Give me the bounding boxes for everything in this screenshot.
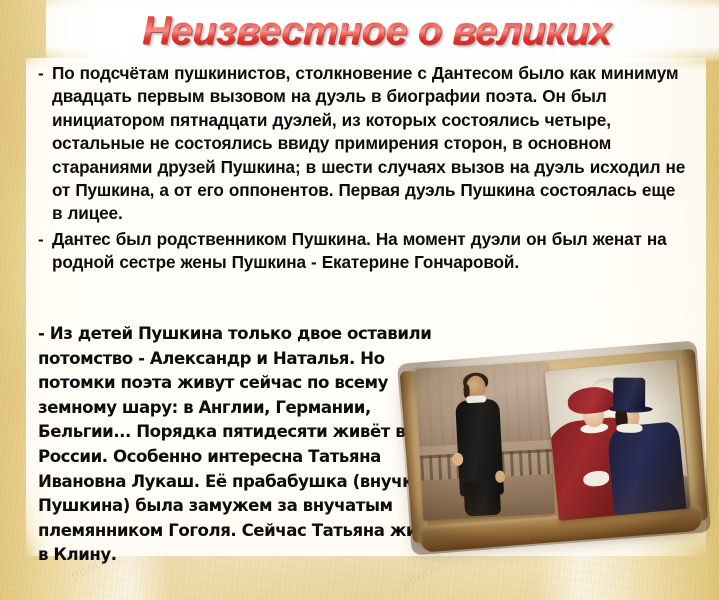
pushkin-right-hand — [495, 470, 506, 483]
pushkin-figure — [446, 374, 513, 519]
bullet-list: - По подсчётам пушкинистов, столкновение… — [30, 62, 690, 277]
book-left-page-portrait — [415, 362, 555, 521]
list-item: - По подсчётам пушкинистов, столкновение… — [30, 62, 690, 226]
book-right-page-portrait — [545, 359, 691, 521]
pushkin-coattail — [463, 481, 501, 517]
gentleman-coat — [606, 421, 687, 521]
bullet-marker-icon: - — [30, 228, 52, 251]
bullet-text: Дантес был родственником Пушкина. На мом… — [52, 228, 690, 275]
pushkin-collar — [466, 395, 486, 403]
slide-canvas: photo photo photo photo Неизвестное о ве… — [0, 0, 719, 600]
top-hat — [613, 378, 645, 410]
list-item: - Дантес был родственником Пушкина. На м… — [30, 228, 690, 275]
open-book-illustration — [397, 341, 711, 556]
wrap-paragraph: - Из детей Пушкина только двое оставили … — [38, 322, 448, 568]
lady-hat — [567, 385, 617, 415]
bullet-marker-icon: - — [30, 62, 52, 85]
gentleman-collar — [616, 424, 642, 433]
bullet-text: По подсчётам пушкинистов, столкновение с… — [52, 62, 690, 226]
